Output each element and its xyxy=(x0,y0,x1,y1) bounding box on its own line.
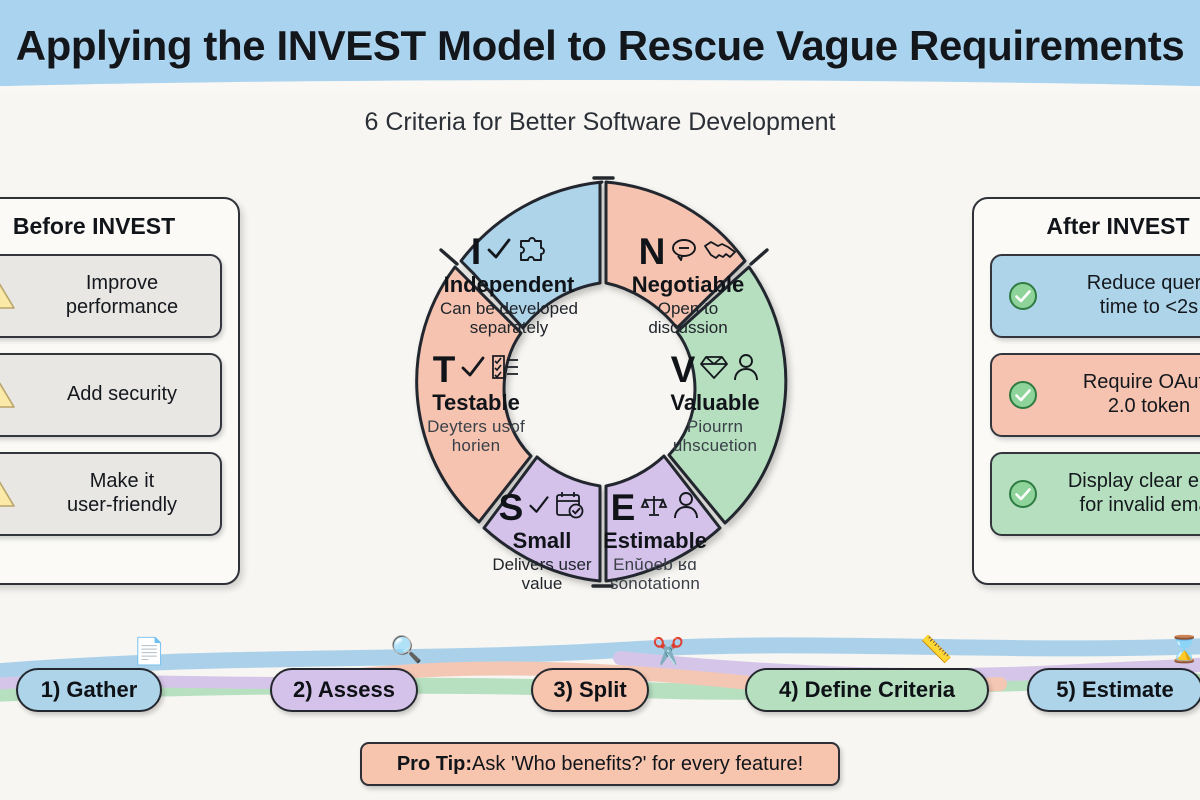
before-card-3-label: Make it user-friendly xyxy=(30,470,220,517)
warning-triangle-icon xyxy=(0,479,30,509)
before-card-3: Make it user-friendly xyxy=(0,452,222,536)
before-card-2: Add security xyxy=(0,353,222,437)
timeline-step-3-label: 3) Split xyxy=(553,677,626,703)
after-card-3-label: Display clear error for invalid email xyxy=(1054,470,1200,517)
before-card-1: Improve performance xyxy=(0,254,222,338)
timeline-step-3[interactable]: 3) Split xyxy=(531,668,649,712)
warning-triangle-icon xyxy=(0,380,30,410)
timeline-step-2-label: 2) Assess xyxy=(293,677,395,703)
before-card-1-label: Improve performance xyxy=(30,272,220,319)
check-circle-icon xyxy=(992,279,1054,313)
magnifier-icon: 🔍 xyxy=(390,634,422,665)
after-card-1: Reduce query time to <2s xyxy=(990,254,1200,338)
pro-tip-banner: Pro Tip: Ask 'Who benefits?' for every f… xyxy=(360,742,840,786)
timeline-step-1-label: 1) Gather xyxy=(41,677,138,703)
panel-before-title: Before INVEST xyxy=(0,213,238,240)
page-title: Applying the INVEST Model to Rescue Vagu… xyxy=(0,0,1200,92)
timeline-step-5[interactable]: 5) Estimate xyxy=(1027,668,1200,712)
scissors-icon: ✂️ xyxy=(652,636,684,667)
panel-before-invest: Before INVEST Improve performance Add se… xyxy=(0,197,240,585)
timeline-step-4[interactable]: 4) Define Criteria xyxy=(745,668,989,712)
check-circle-icon xyxy=(992,477,1054,511)
panel-after-title: After INVEST xyxy=(974,213,1200,240)
timeline-step-5-label: 5) Estimate xyxy=(1056,677,1173,703)
after-card-1-label: Reduce query time to <2s xyxy=(1054,272,1200,319)
check-circle-icon xyxy=(992,378,1054,412)
before-card-2-label: Add security xyxy=(30,383,220,407)
page-subtitle: 6 Criteria for Better Software Developme… xyxy=(0,108,1200,137)
timeline-step-2[interactable]: 2) Assess xyxy=(270,668,418,712)
document-icon: 📄 xyxy=(133,636,165,667)
process-timeline: 📄 🔍 ✂️ 📏 ⌛ 1) Gather 2) Assess 3) Split … xyxy=(0,628,1200,738)
ruler-icon: 📏 xyxy=(920,634,952,665)
timeline-step-4-label: 4) Define Criteria xyxy=(779,677,955,703)
hourglass-icon: ⌛ xyxy=(1168,634,1200,665)
timeline-step-1[interactable]: 1) Gather xyxy=(16,668,162,712)
pro-tip-prefix: Pro Tip: xyxy=(397,753,472,776)
invest-donut-wheel: I Independent Can be developed separatel… xyxy=(355,168,845,658)
after-card-2: Require OAuth 2.0 token xyxy=(990,353,1200,437)
panel-after-invest: After INVEST Reduce query time to <2s Re… xyxy=(972,197,1200,585)
after-card-2-label: Require OAuth 2.0 token xyxy=(1054,371,1200,418)
pro-tip-text: Ask 'Who benefits?' for every feature! xyxy=(472,753,803,776)
warning-triangle-icon xyxy=(0,281,30,311)
donut-svg xyxy=(355,168,845,658)
after-card-3: Display clear error for invalid email xyxy=(990,452,1200,536)
